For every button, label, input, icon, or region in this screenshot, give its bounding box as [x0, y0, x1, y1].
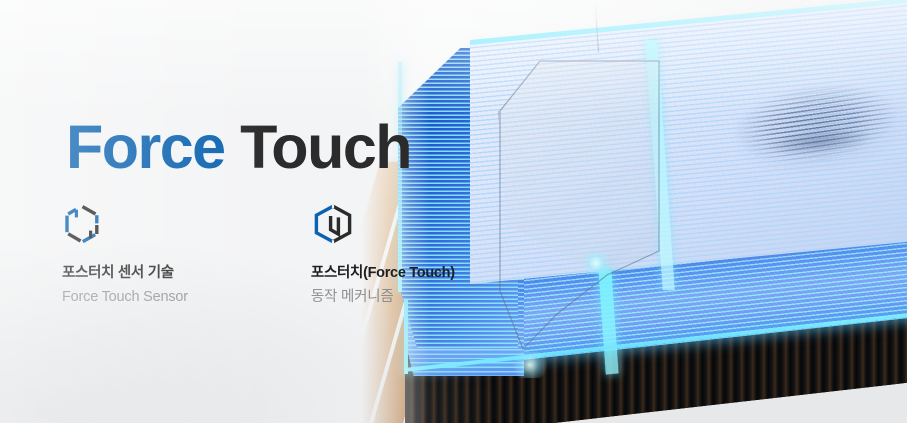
page-title: Force Touch: [66, 117, 411, 178]
feature-subtitle: Force Touch Sensor: [62, 287, 188, 308]
feature-item-mechanism[interactable]: 포스터치(Force Touch) 동작 메커니즘: [311, 203, 455, 308]
hexagon-n-mechanism-icon: [311, 203, 355, 245]
feature-list: 포스터치 센서 기술 Force Touch Sensor 포스터치(Force…: [62, 203, 455, 308]
feature-subtitle: 동작 메커니즘: [311, 287, 455, 308]
title-secondary: Touch: [240, 113, 411, 181]
feature-title: 포스터치 센서 기술: [62, 264, 188, 284]
title-primary: Force: [66, 113, 225, 181]
hexagon-segments-icon: [62, 203, 106, 245]
feature-title: 포스터치(Force Touch): [311, 264, 455, 284]
hero-banner: Force Touch: [0, 0, 907, 423]
light-flare: [578, 252, 614, 274]
light-flare: [510, 352, 550, 378]
hero-content: Force Touch: [0, 0, 440, 423]
feature-item-sensor-tech[interactable]: 포스터치 센서 기술 Force Touch Sensor: [62, 203, 188, 308]
